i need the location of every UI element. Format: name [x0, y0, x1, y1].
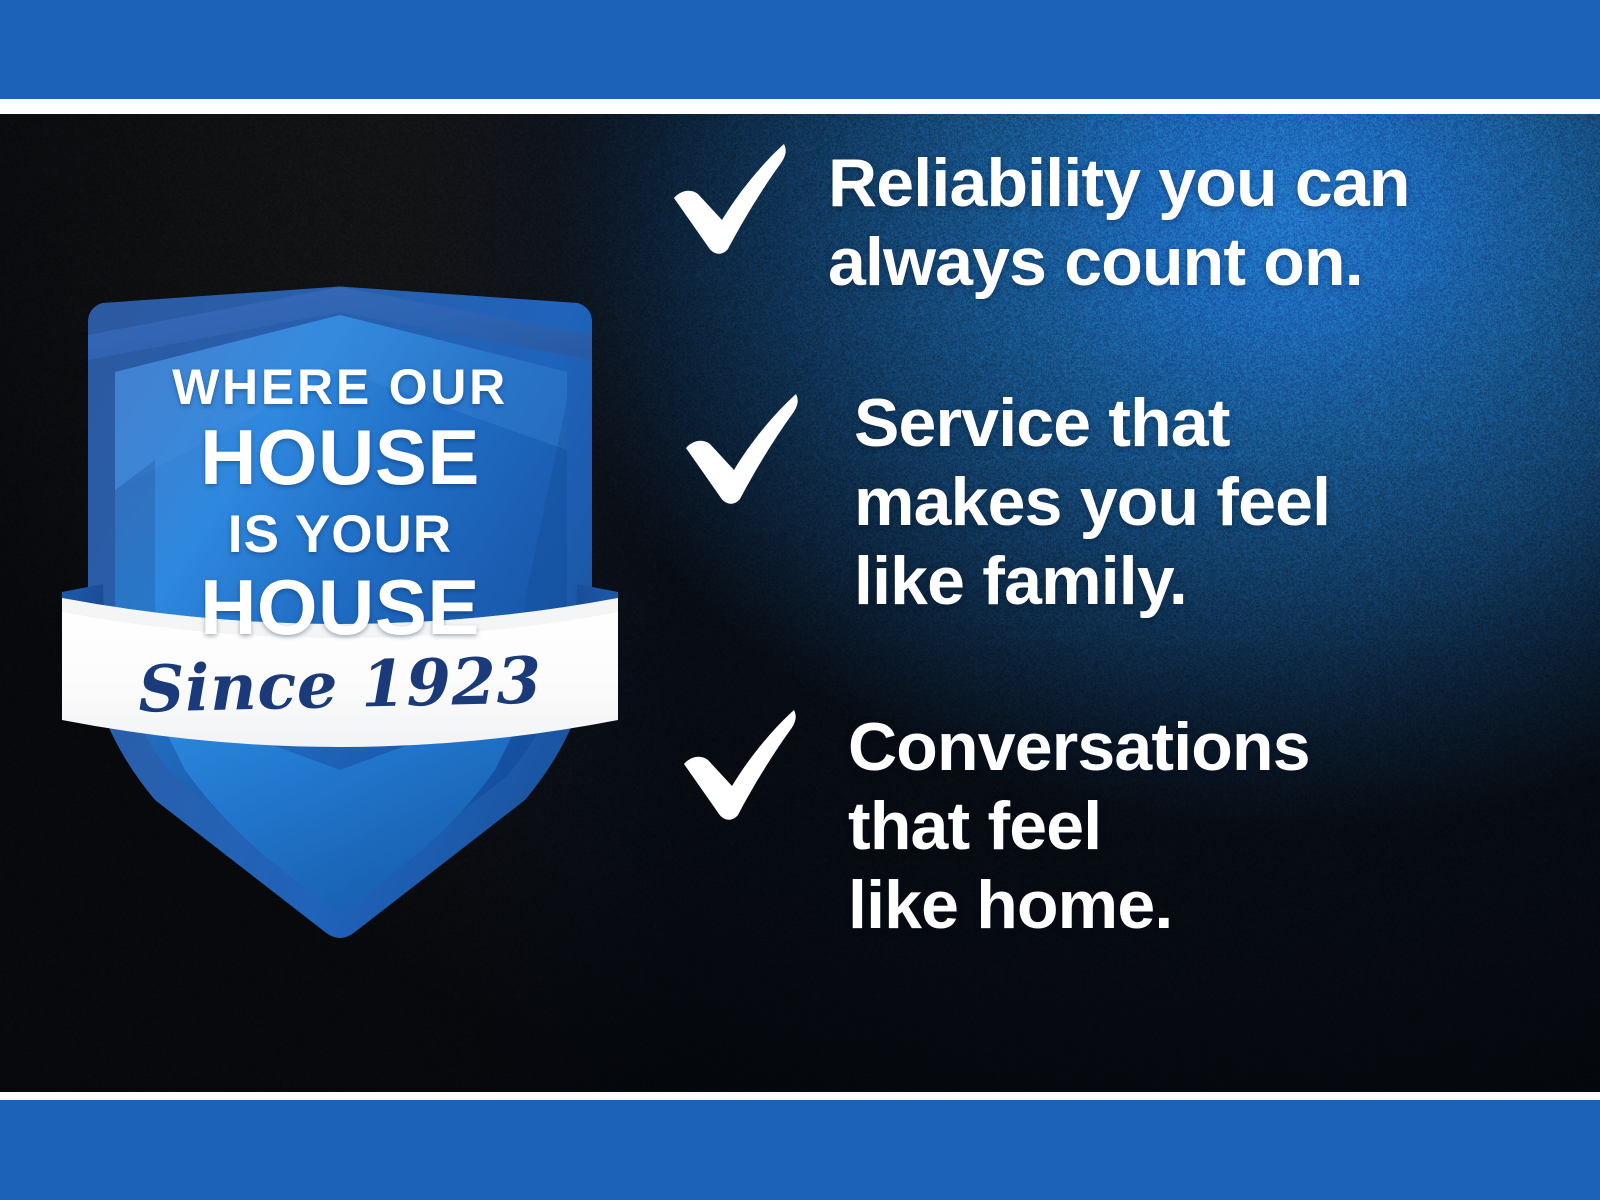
list-item: Reliability you can always count on.: [660, 136, 1410, 302]
list-item-text: Reliability you can always count on.: [828, 144, 1410, 302]
checkmark-icon: [670, 702, 800, 822]
bottom-white-divider: [0, 1092, 1600, 1100]
list-item: Service that makes you feel like family.: [672, 386, 1330, 621]
benefits-list: Reliability you can always count on. Ser…: [660, 114, 1600, 1092]
logo-line-house-1: HOUSE: [55, 418, 625, 496]
list-item-text: Conversations that feel like home.: [848, 708, 1310, 945]
top-white-divider: [0, 99, 1600, 114]
checkmark-icon: [660, 136, 790, 256]
logo-since-ribbon-text: Since 1923: [54, 648, 625, 725]
shield-logo: WHERE OUR HOUSE IS YOUR HOUSE Since 1923: [55, 160, 625, 950]
logo-line-is-your: IS YOUR: [55, 508, 625, 561]
list-item-text: Service that makes you feel like family.: [854, 384, 1330, 621]
list-item: Conversations that feel like home.: [670, 702, 1310, 945]
logo-line-house-2: HOUSE: [55, 568, 625, 646]
top-brand-bar: [0, 0, 1600, 99]
logo-line-where: WHERE OUR: [55, 362, 625, 412]
promo-graphic: WHERE OUR HOUSE IS YOUR HOUSE Since 1923…: [0, 0, 1600, 1200]
bottom-brand-bar: [0, 1100, 1600, 1200]
checkmark-icon: [672, 386, 802, 506]
